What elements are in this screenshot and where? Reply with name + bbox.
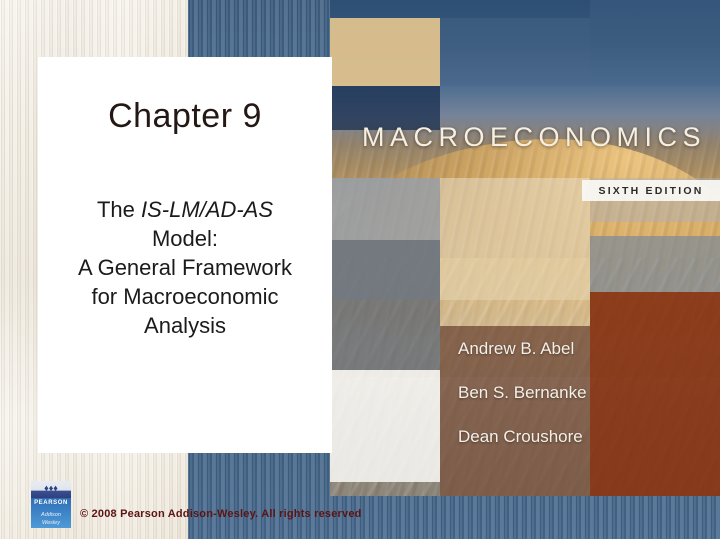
book-author-list: Andrew B. Abel Ben S. Bernanke Dean Crou…: [458, 340, 698, 472]
subtitle-line-2: Model:: [48, 224, 322, 253]
textbook-cover-image: MACROECONOMICS SIXTH EDITION Andrew B. A…: [330, 0, 720, 496]
cover-tile-sand-lower: [440, 258, 590, 326]
subtitle-line-3: A General Framework: [48, 253, 322, 282]
subtitle-line-1-italic: IS-LM/AD-AS: [141, 197, 273, 222]
book-edition-label: SIXTH EDITION: [598, 185, 703, 197]
pearson-brand-label: PEARSON: [31, 500, 71, 506]
copyright-notice: © 2008 Pearson Addison-Wesley. All right…: [80, 508, 362, 520]
cover-tile-dark-gray-left: [330, 240, 440, 370]
book-title: MACROECONOMICS: [362, 122, 706, 153]
pearson-addison-wesley-logo: ♦♦♦ PEARSON Addison Wesley: [31, 481, 71, 528]
subtitle-line-1: The IS-LM/AD-AS: [48, 195, 322, 224]
imprint-line-2: Wesley: [42, 520, 60, 526]
subtitle-line-5: Analysis: [48, 311, 322, 340]
cover-tile-tan: [330, 18, 440, 86]
cover-tile-blue-top-left: [440, 18, 590, 86]
book-author: Ben S. Bernanke: [458, 384, 698, 401]
presentation-slide: MACROECONOMICS SIXTH EDITION Andrew B. A…: [0, 0, 720, 539]
pearson-stars-icon: ♦♦♦: [31, 484, 71, 493]
cover-tile-white-left: [330, 370, 440, 482]
cover-tile-blue-top-right: [590, 0, 720, 86]
subtitle-line-1-prefix: The: [97, 197, 141, 222]
book-author: Andrew B. Abel: [458, 340, 698, 357]
book-author: Dean Croushore: [458, 428, 698, 445]
subtitle-line-4: for Macroeconomic: [48, 282, 322, 311]
imprint-line-1: Addison: [41, 512, 61, 518]
book-edition-badge: SIXTH EDITION: [582, 180, 720, 201]
slide-text-card: Chapter 9 The IS-LM/AD-AS Model: A Gener…: [38, 57, 332, 453]
chapter-title: Chapter 9: [38, 97, 332, 136]
cover-tile-gray-right-lower: [590, 236, 720, 292]
addison-wesley-imprint-label: Addison Wesley: [31, 511, 71, 528]
slide-subtitle: The IS-LM/AD-AS Model: A General Framewo…: [48, 195, 322, 340]
